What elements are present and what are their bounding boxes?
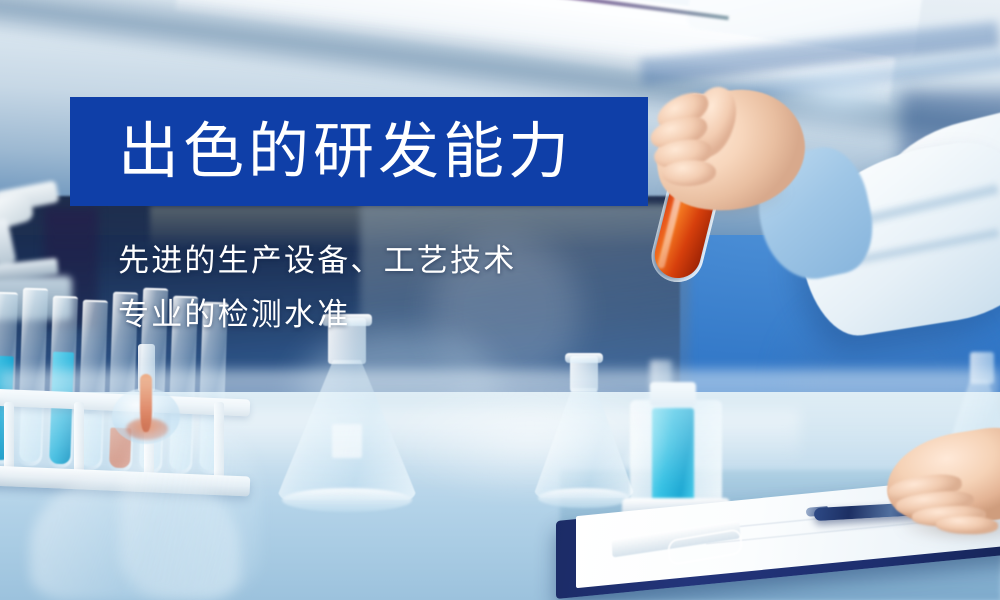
lab-hero-banner: 出色的研发能力 先进的生产设备、工艺技术 专业的检测水准 — [0, 0, 1000, 600]
hand-on-clipboard — [866, 418, 1000, 538]
flask-rim — [565, 353, 603, 363]
headline-title: 出色的研发能力 — [118, 121, 573, 182]
subtitle-line-2: 专业的检测水准 — [118, 300, 678, 331]
microscope-objective-lens — [0, 218, 16, 265]
headline-banner: 出色的研发能力 — [70, 97, 648, 206]
depth-haze-center — [380, 380, 680, 500]
foreground-glassware-2 — [120, 430, 260, 600]
subtitle-block: 先进的生产设备、工艺技术 专业的检测水准 — [118, 246, 678, 354]
subtitle-line-1: 先进的生产设备、工艺技术 — [118, 246, 678, 277]
